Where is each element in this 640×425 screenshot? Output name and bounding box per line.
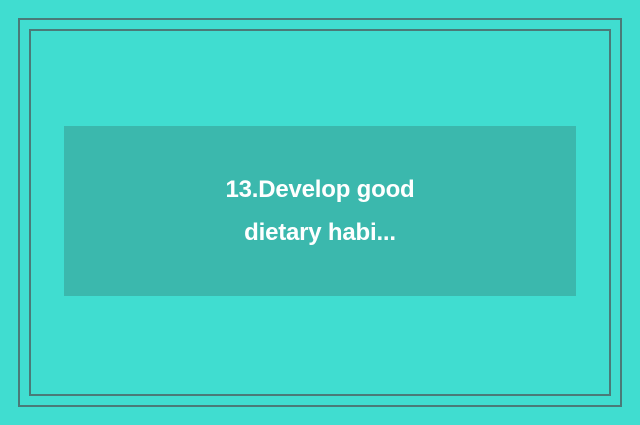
- caption-overlay-panel[interactable]: 13.Develop good dietary habi...: [64, 126, 576, 296]
- thumbnail-canvas: 13.Develop good dietary habi...: [0, 0, 640, 425]
- caption-title: 13.Develop good dietary habi...: [64, 168, 576, 254]
